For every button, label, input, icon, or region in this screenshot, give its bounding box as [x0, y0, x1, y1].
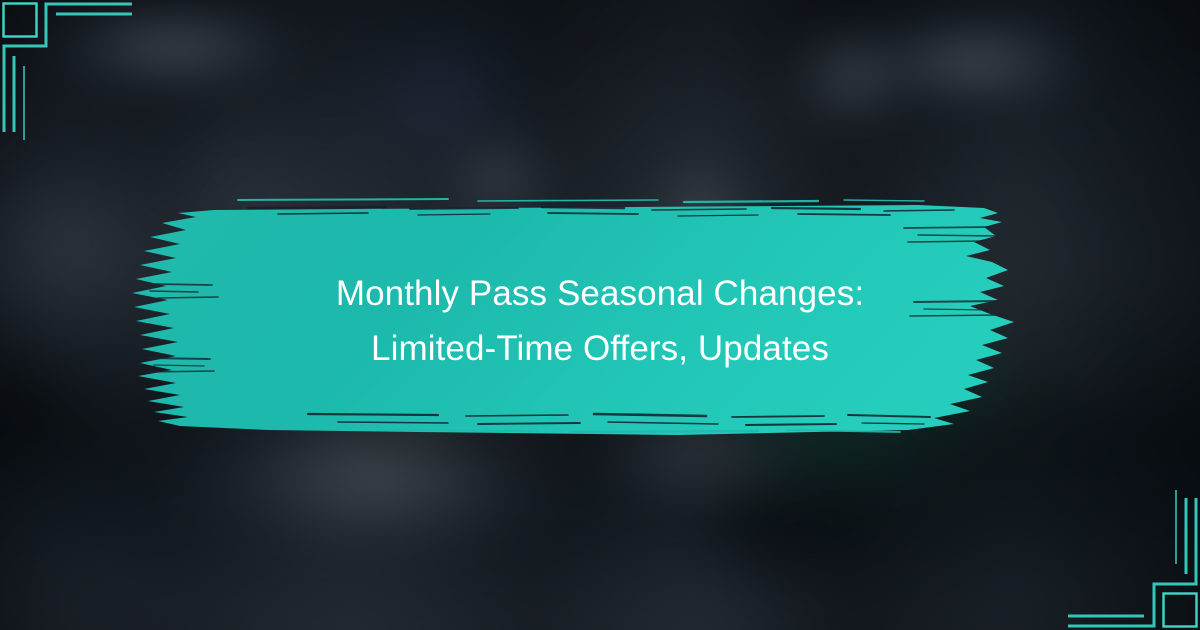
brush-stroke-shape: [118, 192, 1038, 444]
corner-bracket-top-left-icon: [0, 0, 180, 180]
banner: Monthly Pass Seasonal Changes: Limited-T…: [0, 0, 1200, 630]
corner-bracket-bottom-right-icon: [1020, 450, 1200, 630]
